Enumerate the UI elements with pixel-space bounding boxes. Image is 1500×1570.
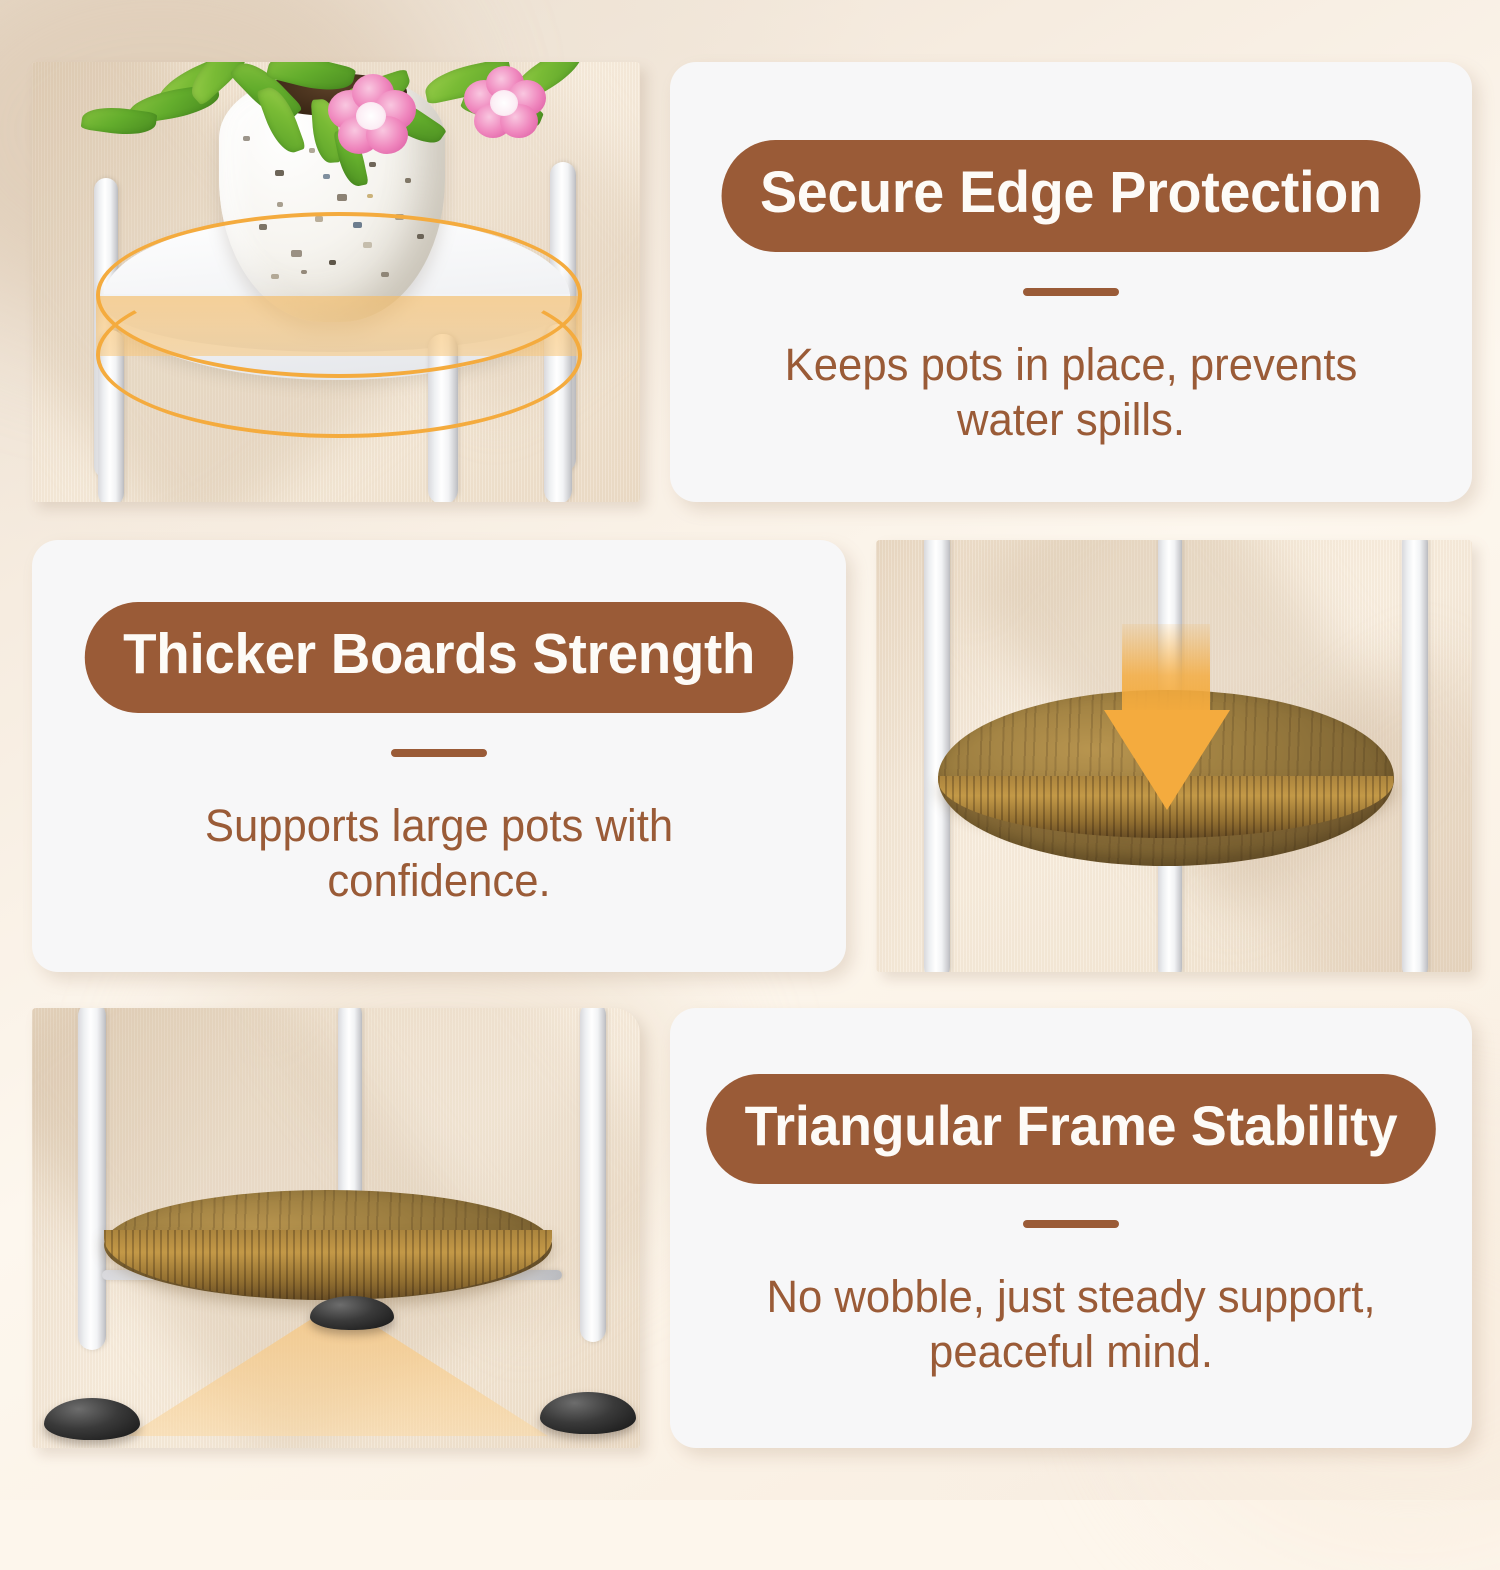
feature-photo-triangular-frame-stability [32,1008,640,1448]
pink-flower [326,74,418,156]
pink-flower [464,66,548,140]
stand-leg [544,324,572,502]
feature-row-1: Secure Edge Protection Keeps pots in pla… [32,62,1472,502]
feature-card-secure-edge-protection: Secure Edge Protection Keeps pots in pla… [670,62,1472,502]
feature-card-thicker-boards-strength: Thicker Boards Strength Supports large p… [32,540,846,972]
badge-divider [391,749,487,757]
load-arrow-shaft [1122,624,1210,718]
stand-leg [98,330,124,502]
badge-divider [1023,1220,1119,1228]
feature-card-triangular-frame-stability: Triangular Frame Stability No wobble, ju… [670,1008,1472,1448]
feature-description: No wobble, just steady support, peaceful… [751,1270,1391,1380]
infographic-page: Secure Edge Protection Keeps pots in pla… [0,0,1500,1500]
feature-badge: Secure Edge Protection [722,140,1421,252]
rubber-foot [310,1296,394,1330]
feature-photo-thicker-boards-strength [876,540,1472,972]
stand-leg [338,1008,362,1202]
badge-divider [1023,288,1119,296]
feature-row-2: Thicker Boards Strength Supports large p… [32,540,1472,972]
feature-description: Keeps pots in place, prevents water spil… [751,338,1391,448]
feature-badge: Triangular Frame Stability [706,1074,1436,1184]
feature-row-3: Triangular Frame Stability No wobble, ju… [32,1008,1472,1448]
feature-photo-secure-edge-protection [32,62,640,502]
stand-leg [78,1008,106,1350]
stand-leg [428,334,458,502]
feature-badge: Thicker Boards Strength [85,602,794,713]
stand-leg [1402,540,1428,972]
stand-leg [580,1008,606,1342]
feature-description: Supports large pots with confidence. [119,799,759,909]
